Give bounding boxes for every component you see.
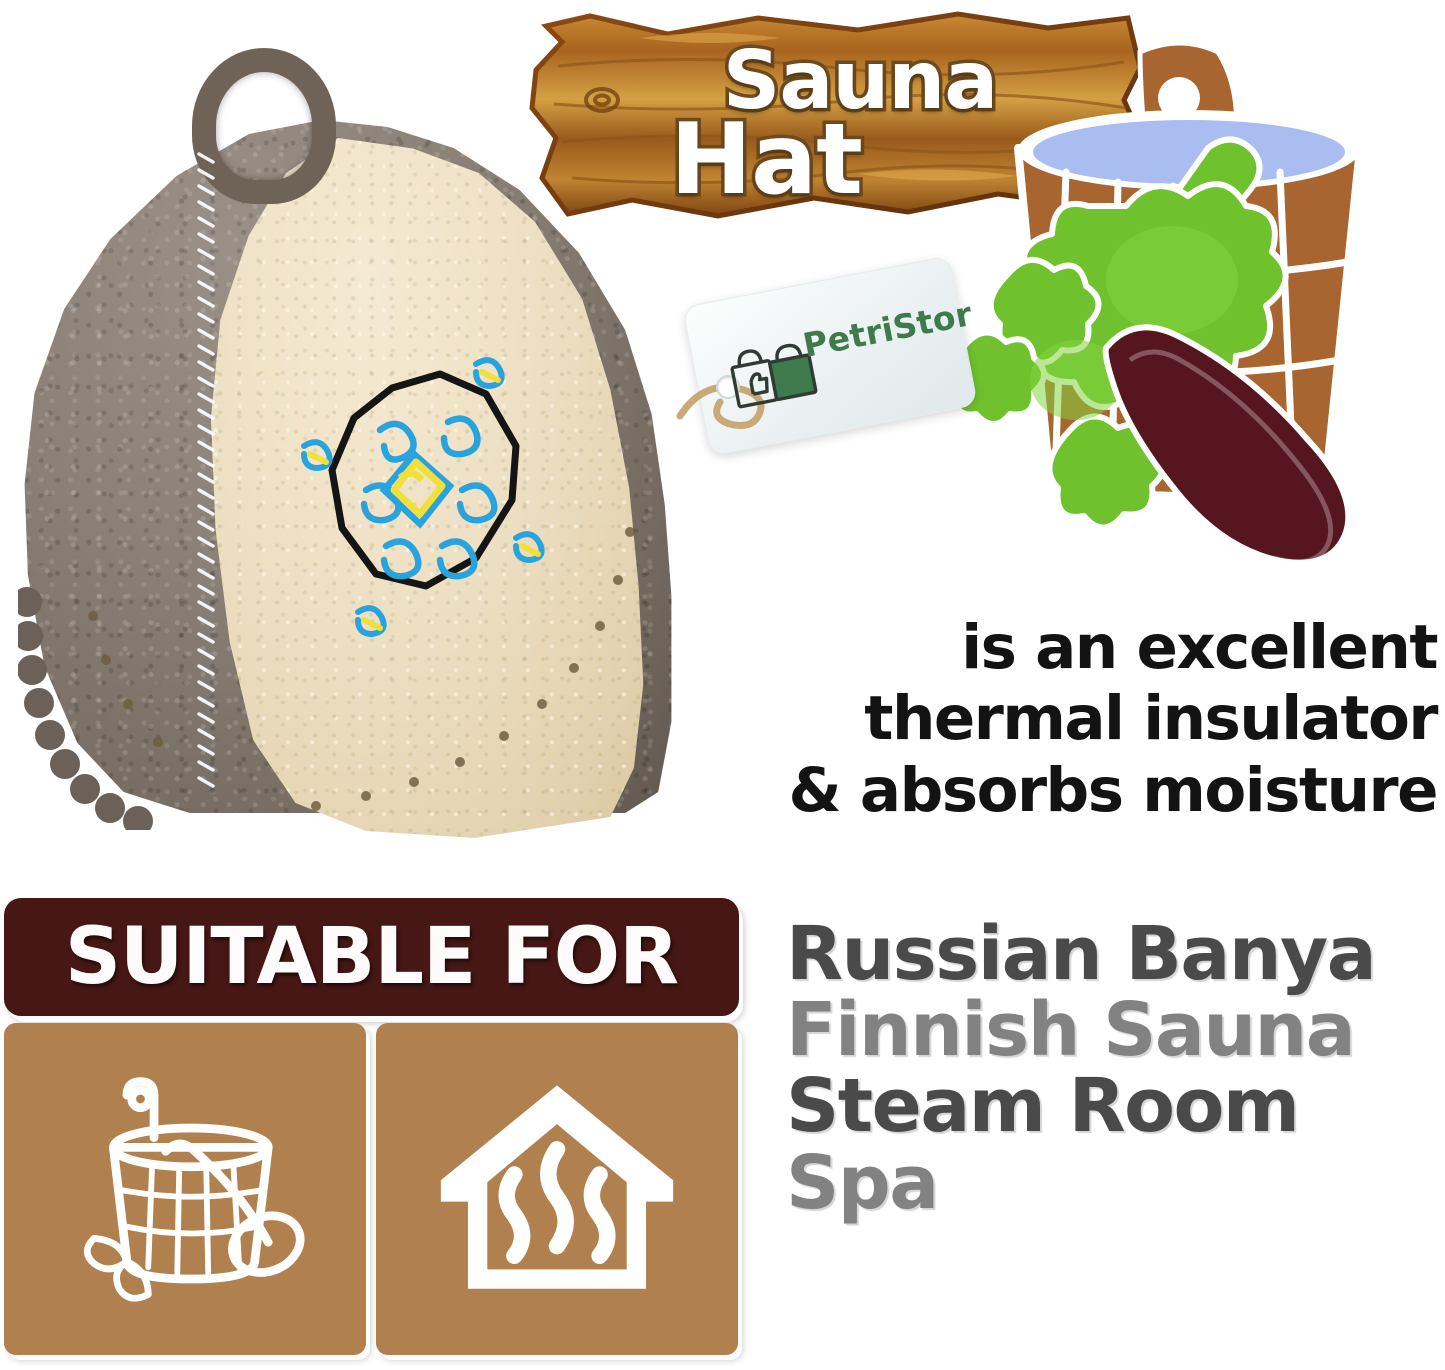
tile-bucket-ladle — [4, 1023, 366, 1355]
venue-item-steam-room: Steam Room — [786, 1068, 1445, 1144]
tile-sauna-house — [376, 1023, 738, 1355]
sauna-house-steam-icon — [431, 1068, 683, 1310]
cross-stitch-embroidery — [280, 350, 560, 650]
description-line-3: & absorbs moisture — [737, 755, 1437, 826]
suitable-for-banner: SUITABLE FOR — [4, 898, 739, 1016]
banner-label: SUITABLE FOR — [4, 898, 739, 1016]
sauna-bucket-ladle-icon — [59, 1068, 311, 1310]
hat-hanging-loop — [192, 48, 336, 204]
venue-item-spa: Spa — [786, 1145, 1445, 1221]
petristor-brand-tag: PetriStor — [672, 256, 990, 478]
suitable-for-tiles — [4, 1023, 754, 1363]
tag-string — [672, 256, 990, 478]
description-line-1: is an excellent — [737, 612, 1437, 683]
product-description: is an excellent thermal insulator & abso… — [737, 612, 1437, 826]
description-line-2: thermal insulator — [737, 683, 1437, 754]
venue-item-russian-banya: Russian Banya — [786, 916, 1445, 992]
product-infographic: Sauna Hat — [0, 0, 1445, 1370]
venue-list: Russian Banya Finnish Sauna Steam Room S… — [786, 916, 1445, 1221]
venue-item-finnish-sauna: Finnish Sauna — [786, 992, 1445, 1068]
